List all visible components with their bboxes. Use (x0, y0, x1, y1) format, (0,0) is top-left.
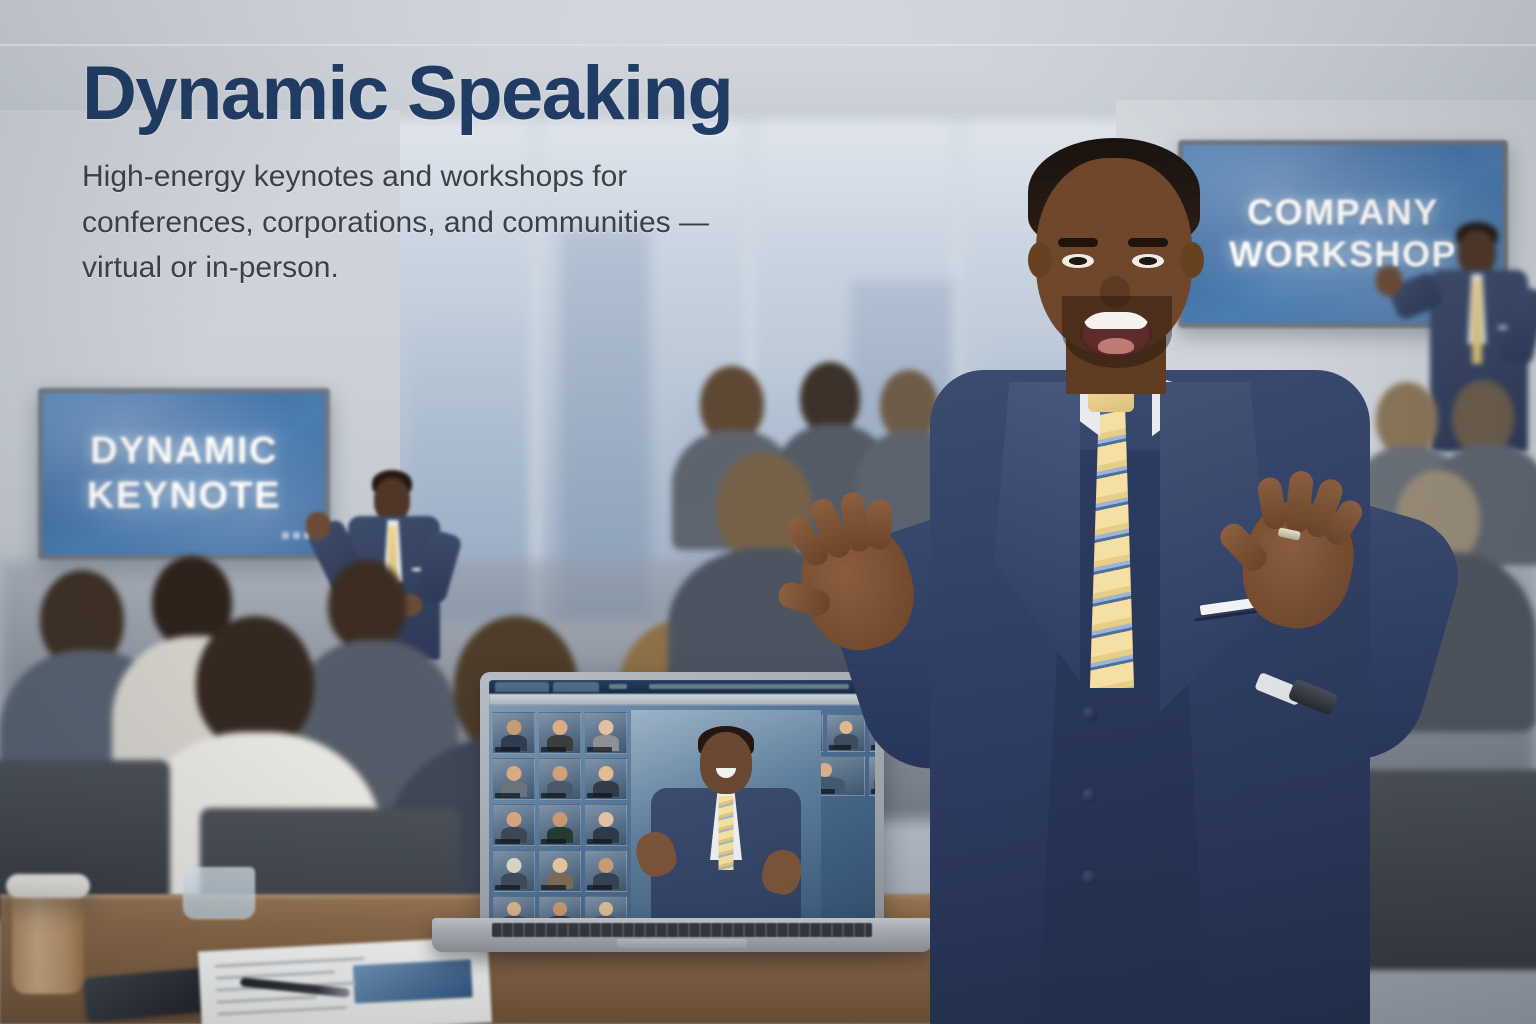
subtitle-line-2: conferences, corporations, and communiti… (82, 200, 882, 246)
tongue (1098, 338, 1134, 354)
participant-tile[interactable] (493, 758, 535, 800)
water-glass (183, 867, 255, 919)
participant-tile[interactable] (493, 804, 535, 846)
hero-copy-block: Dynamic Speaking High-energy keynotes an… (82, 56, 902, 291)
subtitle-line-3: virtual or in-person. (82, 245, 882, 291)
eye-left (1062, 254, 1094, 268)
participant-tile[interactable] (539, 758, 581, 800)
participant-tile[interactable] (585, 758, 627, 800)
participant-tile[interactable] (493, 712, 535, 754)
participant-tile[interactable] (585, 712, 627, 754)
teeth (1084, 312, 1148, 329)
eye-right (1132, 254, 1164, 268)
hero-banner: DYNAMIC KEYNOTE COMPANY WORKSHOP (0, 0, 1536, 1024)
laptop-trackpad[interactable] (617, 939, 747, 948)
participant-tile[interactable] (585, 850, 627, 892)
participant-tile[interactable] (585, 804, 627, 846)
hero-subtitle: High-energy keynotes and workshops for c… (82, 154, 882, 291)
participant-tile[interactable] (493, 850, 535, 892)
participant-tile[interactable] (539, 712, 581, 754)
open-smile-mouth (1080, 312, 1152, 356)
participant-tile[interactable] (539, 804, 581, 846)
participant-tile[interactable] (539, 850, 581, 892)
ear-left (1028, 242, 1052, 278)
vest-button (1082, 788, 1097, 803)
ear-right (1180, 242, 1204, 278)
coffee-cup (12, 886, 84, 994)
vest-button (1082, 706, 1097, 721)
eyebrow-left (1058, 238, 1098, 247)
subtitle-line-1: High-energy keynotes and workshops for (82, 154, 882, 200)
eyebrow-right (1128, 238, 1168, 247)
vest-button (1082, 870, 1097, 885)
finger (867, 499, 893, 550)
page-title: Dynamic Speaking (82, 56, 902, 132)
